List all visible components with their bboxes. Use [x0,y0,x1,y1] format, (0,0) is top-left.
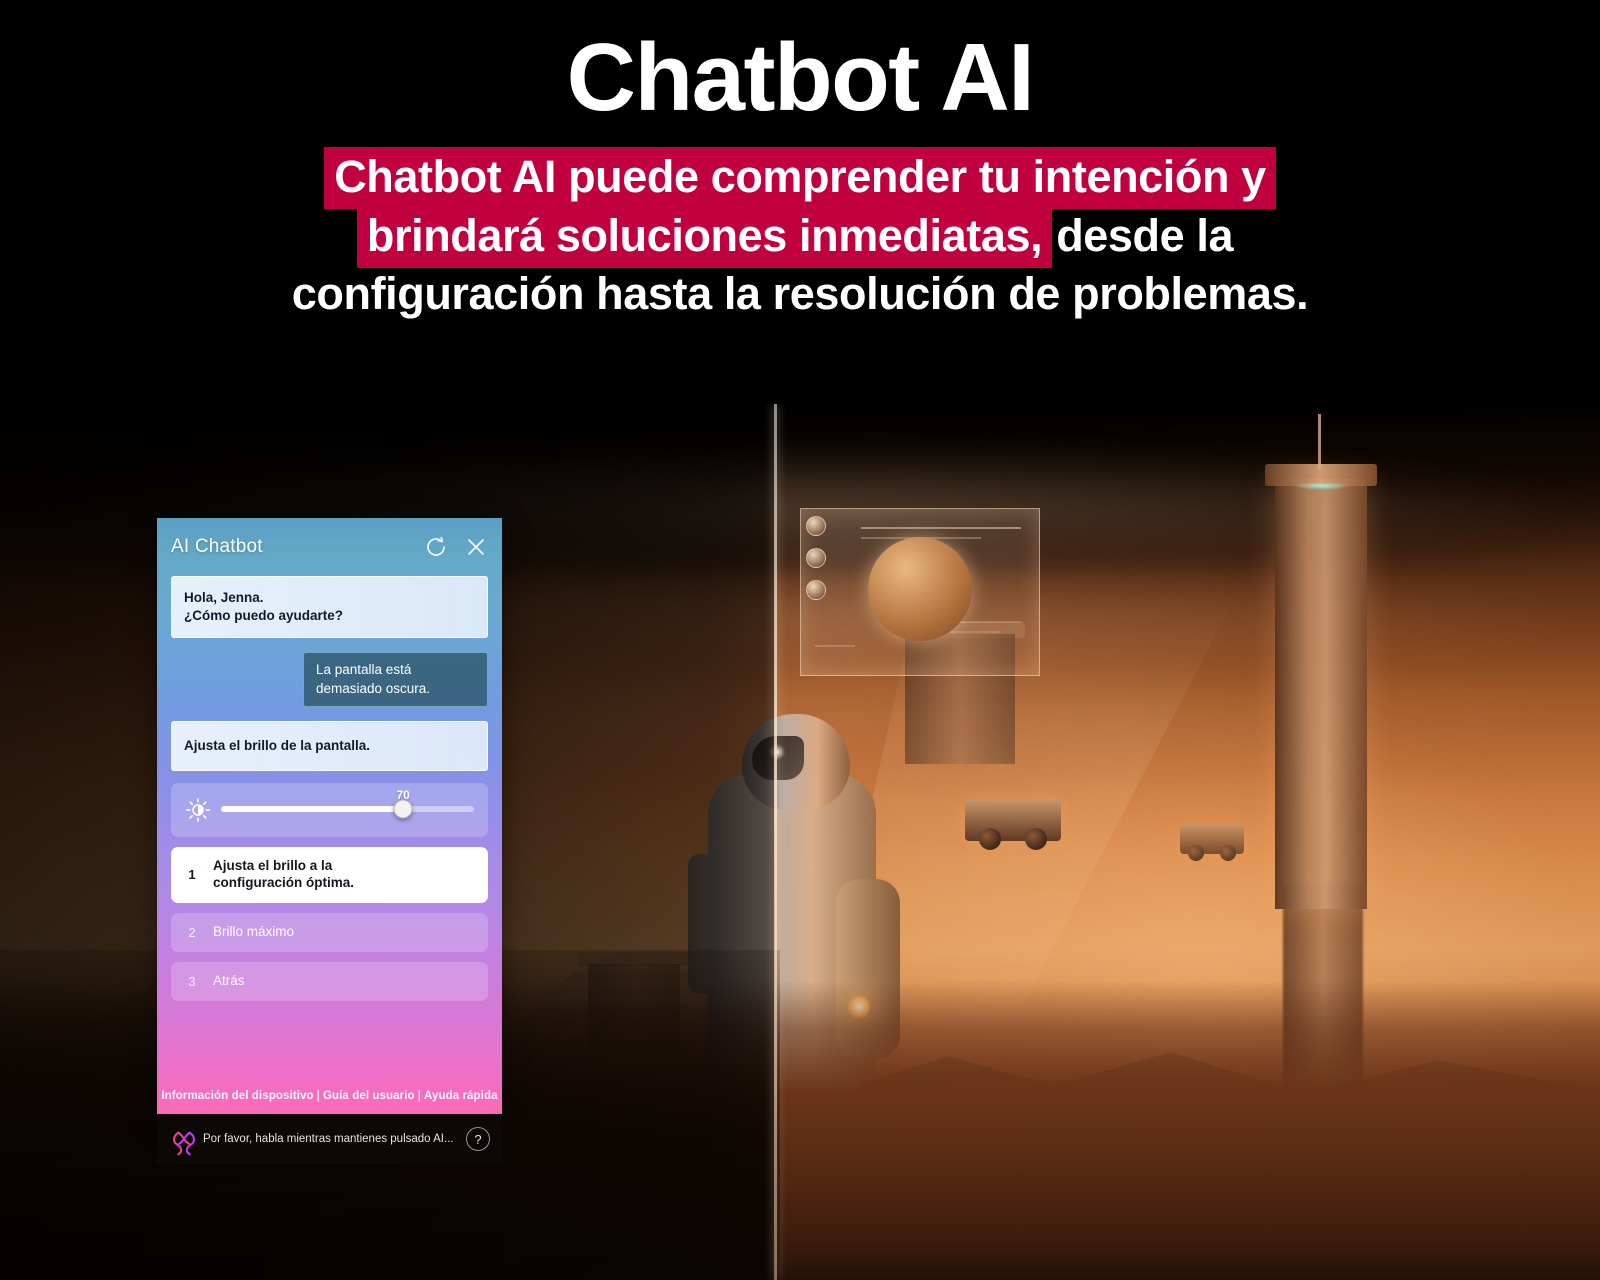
tower-light-glow [1294,482,1350,490]
link-separator: | [415,1090,424,1102]
tower-antenna-icon [1318,414,1321,469]
option-label: Ajusta el brillo a la configuración ópti… [213,858,354,892]
option-number: 2 [187,925,197,940]
subtitle-line-1: Chatbot AI puede comprender tu intención… [0,148,1600,207]
comparison-split-line [774,404,777,1280]
user-message-line-2: demasiado oscura. [316,680,475,698]
hero-section: Chatbot AI Chatbot AI puede comprender t… [0,0,1600,404]
bot-message-line-1: Hola, Jenna. [184,589,475,607]
hero-subtitle: Chatbot AI puede comprender tu intención… [0,148,1600,324]
help-icon[interactable]: ? [466,1127,490,1151]
chatbot-header: AI Chatbot [157,518,502,576]
bot-message-line-2: ¿Cómo puedo ayudarte? [184,607,475,625]
subtitle-seg-plain: desde la [1052,206,1243,268]
chatbot-input-hint[interactable]: Por favor, habla mientras mantienes puls… [203,1133,456,1145]
ai-chatbot-panel: AI Chatbot Hola, Jenna. ¿Cómo pu [157,518,502,1114]
link-device-info[interactable]: Información del dispositivo [161,1090,313,1102]
user-message-bubble: La pantalla está demasiado oscura. [303,652,488,706]
chatbot-input-bar[interactable]: Por favor, habla mientras mantienes puls… [157,1114,502,1164]
brightness-icon [185,797,209,821]
bot-message-bubble: Ajusta el brillo de la pantalla. [171,721,488,771]
user-message-line-1: La pantalla está [316,661,475,679]
option-label: Brillo máximo [213,924,294,941]
refresh-icon[interactable] [424,535,448,559]
option-number: 3 [187,974,197,989]
bixby-loops-icon[interactable] [169,1127,193,1151]
brightness-slider-fill [221,806,403,812]
link-separator: | [314,1090,323,1102]
subtitle-seg-highlight: Chatbot AI puede comprender tu intención… [324,147,1276,209]
option-item-1[interactable]: 1 Ajusta el brillo a la configuración óp… [171,847,488,903]
subtitle-seg-highlight: brindará soluciones inmediatas, [357,206,1052,268]
mining-truck-2 [1180,824,1244,854]
mining-truck-1 [965,799,1061,841]
close-icon[interactable] [464,535,488,559]
page-title: Chatbot AI [0,0,1600,126]
bot-message-bubble: Hola, Jenna. ¿Cómo puedo ayudarte? [171,576,488,638]
hologram-dot-3 [806,580,826,600]
hologram-dot-2 [806,548,826,568]
subtitle-line-3: configuración hasta la resolución de pro… [0,265,1600,324]
option-number: 1 [187,867,197,882]
brightness-slider-track[interactable]: 70 [221,806,474,812]
bot-message-line-1: Ajusta el brillo de la pantalla. [184,737,475,755]
option-label-line-1: Ajusta el brillo a la [213,858,332,873]
brightness-slider-knob[interactable] [394,800,413,819]
option-item-2[interactable]: 2 Brillo máximo [171,913,488,952]
chatbot-title: AI Chatbot [171,536,263,558]
subtitle-seg-plain: configuración hasta la resolución de pro… [286,266,1314,321]
chatbot-footer-links: Información del dispositivo|Guía del usu… [157,1090,502,1114]
link-user-guide[interactable]: Guía del usuario [323,1090,415,1102]
option-item-3[interactable]: 3 Atrás [171,962,488,1001]
option-label: Atrás [213,973,245,990]
link-quick-help[interactable]: Ayuda rápida [424,1090,498,1102]
tower-structure [1275,479,1367,909]
page-root: Chatbot AI Chatbot AI puede comprender t… [0,0,1600,1280]
option-label-line-2: configuración óptima. [213,875,354,890]
hologram-dot-1 [806,516,826,536]
subtitle-line-2: brindará soluciones inmediatas,desde la [0,207,1600,266]
brightness-slider-card[interactable]: 70 [171,783,488,837]
chatbot-header-actions [424,535,488,559]
chatbot-message-list: Hola, Jenna. ¿Cómo puedo ayudarte? La pa… [157,576,502,1001]
hologram-globe [868,537,972,641]
